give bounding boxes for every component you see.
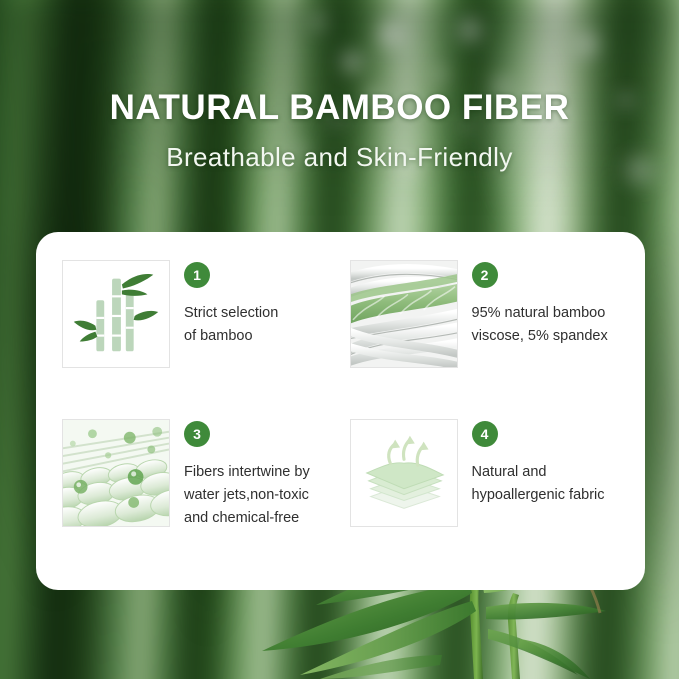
feature-item-2: 2 95% natural bamboo viscose, 5% spandex bbox=[350, 260, 620, 403]
poster-header: NATURAL BAMBOO FIBER Breathable and Skin… bbox=[0, 88, 679, 173]
feature-item-1: 1 Strict selection of bamboo bbox=[62, 260, 332, 403]
feature-text-1: Strict selection of bamboo bbox=[184, 302, 278, 348]
water-jet-fiber-rows-illustration bbox=[62, 419, 170, 527]
product-feature-poster: NATURAL BAMBOO FIBER Breathable and Skin… bbox=[0, 0, 679, 679]
page-subtitle: Breathable and Skin-Friendly bbox=[0, 142, 679, 173]
features-panel: 1 Strict selection of bamboo bbox=[36, 232, 645, 590]
feature-badge-3: 3 bbox=[184, 421, 210, 447]
feature-badge-2: 2 bbox=[472, 262, 498, 288]
feature-body-3: 3 Fibers intertwine by water jets,non-to… bbox=[184, 419, 310, 530]
feature-text-3: Fibers intertwine by water jets,non-toxi… bbox=[184, 461, 310, 530]
twisted-fiber-strands-photo bbox=[350, 260, 458, 368]
feature-item-3: 3 Fibers intertwine by water jets,non-to… bbox=[62, 419, 332, 562]
features-grid: 1 Strict selection of bamboo bbox=[62, 260, 619, 562]
feature-badge-4: 4 bbox=[472, 421, 498, 447]
feature-badge-1: 1 bbox=[184, 262, 210, 288]
feature-body-2: 2 95% natural bamboo viscose, 5% spandex bbox=[472, 260, 608, 348]
feature-item-4: 4 Natural and hypoallergenic fabric bbox=[350, 419, 620, 562]
page-title: NATURAL BAMBOO FIBER bbox=[0, 88, 679, 128]
bamboo-stalks-illustration bbox=[62, 260, 170, 368]
layered-fabric-breathability-illustration bbox=[350, 419, 458, 527]
feature-text-2: 95% natural bamboo viscose, 5% spandex bbox=[472, 302, 608, 348]
feature-body-4: 4 Natural and hypoallergenic fabric bbox=[472, 419, 605, 507]
feature-text-4: Natural and hypoallergenic fabric bbox=[472, 461, 605, 507]
feature-body-1: 1 Strict selection of bamboo bbox=[184, 260, 278, 348]
